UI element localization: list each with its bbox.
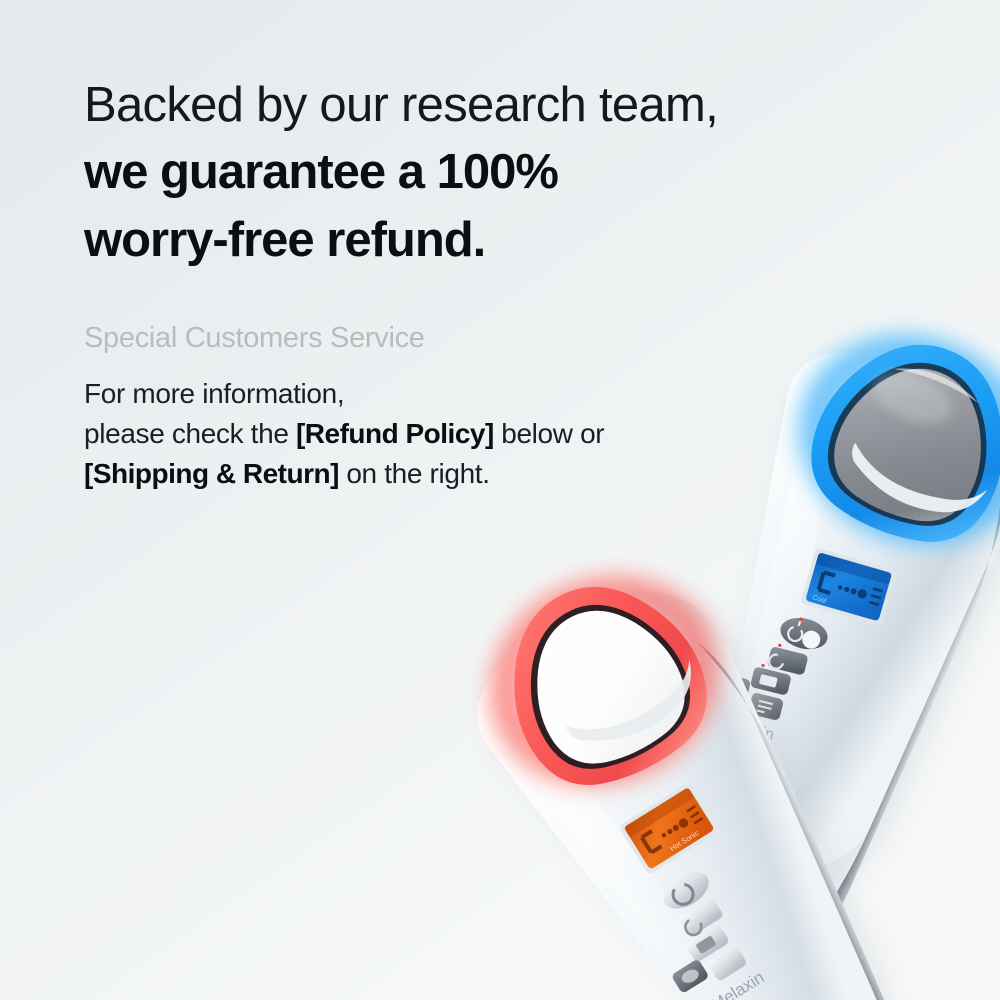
headline-line-1: Backed by our research team, [84,72,904,138]
copy-block: Backed by our research team, we guarante… [84,72,904,494]
body-line-2-suffix: below or [494,418,604,449]
body-line-2: please check the [Refund Policy] below o… [84,414,904,454]
headline-line-2: we guarantee a 100% [84,138,904,206]
body-line-1: For more information, [84,374,904,414]
marketing-banner: Cool [0,0,1000,1000]
body-copy: For more information, please check the [… [84,374,904,494]
body-line-2-prefix: please check the [84,418,296,449]
page-title: Backed by our research team, we guarante… [84,72,904,274]
body-line-3-suffix: on the right. [339,458,490,489]
refund-policy-link[interactable]: [Refund Policy] [296,418,494,449]
body-line-3: [Shipping & Return] on the right. [84,454,904,494]
section-subtitle: Special Customers Service [84,318,904,358]
shipping-return-link[interactable]: [Shipping & Return] [84,458,339,489]
headline-line-3: worry-free refund. [84,206,904,274]
